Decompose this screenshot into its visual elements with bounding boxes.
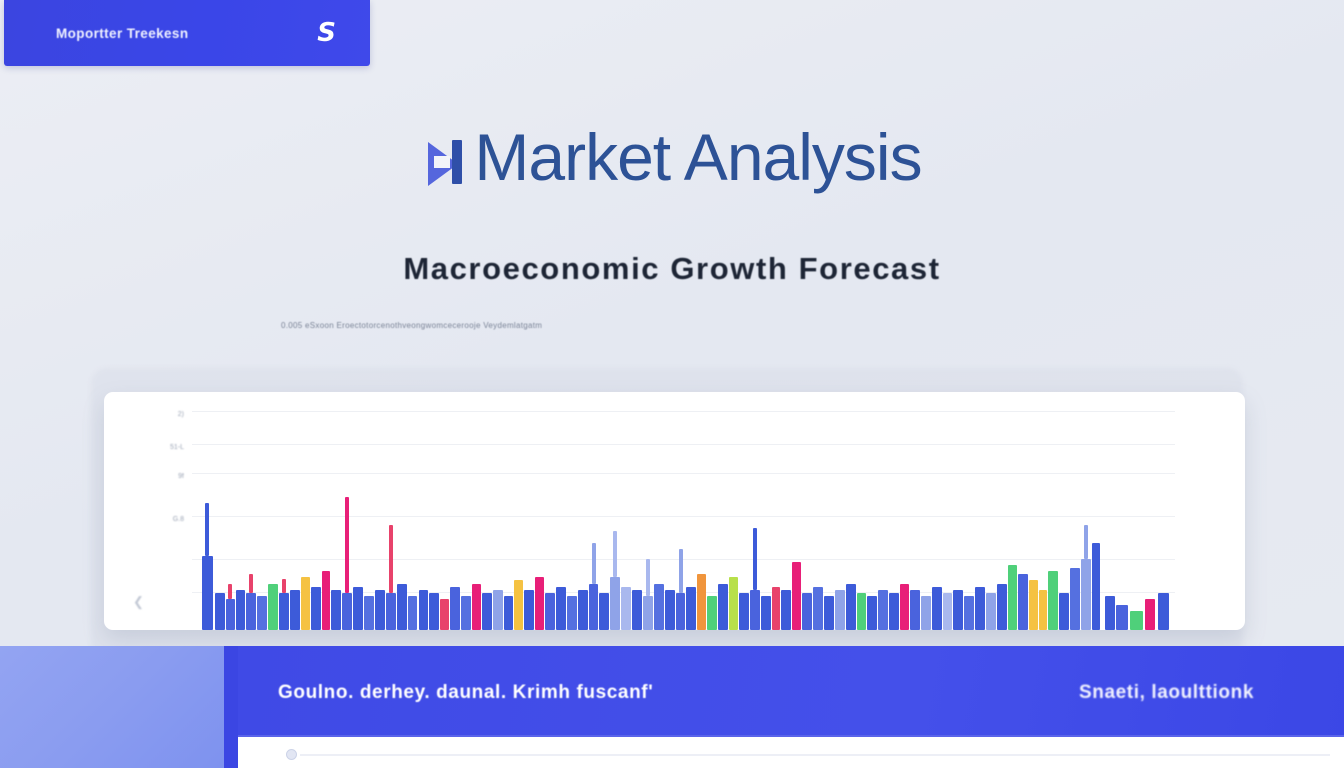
chart-bar[interactable] bbox=[386, 593, 396, 630]
chart-bar[interactable] bbox=[1158, 593, 1169, 630]
chart-bar[interactable] bbox=[953, 590, 963, 630]
chart-bar[interactable] bbox=[1008, 565, 1017, 630]
chart-bar[interactable] bbox=[729, 577, 738, 630]
chart-y-tick-label: 9f bbox=[178, 473, 184, 480]
chart-bar[interactable] bbox=[900, 584, 909, 631]
chart-bar[interactable] bbox=[226, 599, 235, 630]
chart-bar[interactable] bbox=[867, 596, 877, 630]
chart-bar[interactable] bbox=[781, 590, 791, 630]
chart-bar[interactable] bbox=[567, 596, 577, 630]
chart-bar[interactable] bbox=[997, 584, 1007, 631]
chart-bar[interactable] bbox=[846, 584, 856, 631]
chart-bar[interactable] bbox=[440, 599, 449, 630]
chart-bar[interactable] bbox=[610, 577, 620, 630]
chart-bar[interactable] bbox=[322, 571, 331, 630]
chart-bar[interactable] bbox=[450, 587, 460, 630]
chart-bar[interactable] bbox=[1092, 543, 1100, 630]
chart-bar-spike bbox=[389, 525, 393, 593]
chart-bar[interactable] bbox=[246, 593, 256, 630]
bottom-left-panel bbox=[0, 646, 224, 768]
chart-bar-spike bbox=[646, 559, 650, 596]
chart-bar[interactable] bbox=[813, 587, 823, 630]
chart-bar[interactable] bbox=[654, 584, 664, 631]
chart-bar[interactable] bbox=[331, 590, 341, 630]
chart-bar[interactable] bbox=[429, 593, 439, 630]
chart-bar[interactable] bbox=[824, 596, 834, 630]
chart-bar[interactable] bbox=[792, 562, 801, 630]
chart-bar[interactable] bbox=[643, 596, 653, 630]
brand-s-icon: S bbox=[317, 20, 336, 46]
circle-avatar-icon bbox=[286, 749, 297, 760]
chart-bar-spike bbox=[345, 497, 349, 593]
chart-bar[interactable] bbox=[493, 590, 503, 630]
chart-y-axis: 2)51-L9fG.8 bbox=[148, 392, 184, 630]
chart-bar-spike bbox=[249, 574, 253, 593]
chart-bar-spike bbox=[228, 584, 232, 600]
chart-bar[interactable] bbox=[1048, 571, 1058, 630]
chart-bar[interactable] bbox=[589, 584, 599, 631]
main-stage: Market Analysis Macroeconomic Growth For… bbox=[0, 66, 1344, 644]
chart-bar[interactable] bbox=[397, 584, 407, 631]
chart-bar[interactable] bbox=[268, 584, 278, 631]
chart-bar[interactable] bbox=[1116, 605, 1128, 630]
chart-bar[interactable] bbox=[878, 590, 888, 630]
chart-bar[interactable] bbox=[739, 593, 749, 630]
chart-bar[interactable] bbox=[472, 584, 481, 631]
bottom-content-sheet bbox=[238, 735, 1344, 768]
bottom-band-title: Goulno. derhey. daunal. Krimh fuscanf' bbox=[278, 682, 653, 704]
chart-bar[interactable] bbox=[375, 590, 385, 630]
chart-bar[interactable] bbox=[504, 596, 514, 630]
chart-bar[interactable] bbox=[514, 580, 523, 630]
chart-bar[interactable] bbox=[342, 593, 352, 630]
chart-bar[interactable] bbox=[1081, 559, 1091, 630]
chart-bar[interactable] bbox=[1145, 599, 1155, 630]
chart-bar[interactable] bbox=[857, 593, 867, 630]
chart-bar[interactable] bbox=[772, 587, 781, 630]
list-item-placeholder-line bbox=[300, 754, 1330, 756]
chart-bar[interactable] bbox=[761, 596, 771, 630]
chart-bar[interactable] bbox=[301, 577, 310, 630]
chart-bar[interactable] bbox=[419, 590, 429, 630]
chart-bar[interactable] bbox=[1105, 596, 1115, 630]
chevron-left-icon[interactable]: ❮ bbox=[133, 595, 144, 608]
bottom-rail-divider bbox=[224, 646, 238, 768]
chart-bar-spike bbox=[753, 528, 757, 590]
chart-bar[interactable] bbox=[686, 587, 696, 630]
chart-y-tick-label: 2) bbox=[178, 411, 184, 418]
chart-bar[interactable] bbox=[535, 577, 544, 630]
chart-bar[interactable] bbox=[750, 590, 760, 630]
chart-y-tick-label: G.8 bbox=[173, 516, 184, 523]
chart-bar[interactable] bbox=[215, 593, 225, 630]
chart-bar[interactable] bbox=[408, 596, 418, 630]
chart-bar[interactable] bbox=[621, 587, 631, 630]
chart-bar[interactable] bbox=[353, 587, 363, 630]
chart-bar[interactable] bbox=[599, 593, 609, 630]
chart-bar[interactable] bbox=[889, 593, 899, 630]
bottom-band-right-label: Snaeti, laoulttionk bbox=[1079, 682, 1254, 704]
chart-bar[interactable] bbox=[1018, 574, 1028, 630]
chart-bar[interactable] bbox=[910, 590, 920, 630]
chart-bar[interactable] bbox=[986, 593, 996, 630]
chart-bar[interactable] bbox=[364, 596, 374, 630]
chart-bar[interactable] bbox=[311, 587, 321, 630]
chart-bar[interactable] bbox=[1059, 593, 1069, 630]
chart-bar[interactable] bbox=[1130, 611, 1144, 630]
page-subtitle: Macroeconomic Growth Forecast bbox=[0, 251, 1344, 287]
chart-bar[interactable] bbox=[676, 593, 686, 630]
play-triangle-logo-icon bbox=[422, 134, 480, 188]
chart-y-tick-label: 51-L bbox=[170, 444, 184, 451]
chart-bar[interactable] bbox=[556, 587, 566, 630]
chart-bar[interactable] bbox=[632, 590, 642, 630]
chart-bar[interactable] bbox=[964, 596, 974, 630]
chart-bar[interactable] bbox=[1029, 580, 1038, 630]
chart-bar[interactable] bbox=[202, 556, 213, 630]
chart-bar[interactable] bbox=[545, 593, 555, 630]
page-caption: 0.005 eSxoon Eroectotorcenothveongwomcec… bbox=[281, 321, 542, 330]
chart-bar[interactable] bbox=[290, 590, 300, 630]
page-title: Market Analysis bbox=[0, 119, 1344, 195]
chart-bar-spike bbox=[282, 579, 286, 593]
chart-bar[interactable] bbox=[482, 593, 492, 630]
chart-bar[interactable] bbox=[697, 574, 706, 630]
chart-bar[interactable] bbox=[578, 590, 588, 630]
chart-bar[interactable] bbox=[279, 593, 289, 630]
chart-bar[interactable] bbox=[236, 590, 246, 630]
chart-plot-area[interactable] bbox=[196, 392, 1175, 630]
chart-bar[interactable] bbox=[257, 596, 267, 630]
chart-bar-spike bbox=[1084, 525, 1088, 559]
top-banner[interactable]: Moportter Treekesn S bbox=[4, 0, 370, 66]
top-banner-label: Moportter Treekesn bbox=[56, 26, 188, 41]
chart-bar[interactable] bbox=[835, 590, 845, 630]
chart-bar[interactable] bbox=[461, 596, 471, 630]
chart-bar-spike bbox=[205, 503, 209, 556]
chart-bar[interactable] bbox=[718, 584, 728, 631]
chart-bar-spike bbox=[679, 549, 683, 592]
chart-bar-spike bbox=[613, 531, 617, 578]
chart-bar[interactable] bbox=[707, 596, 717, 630]
chart-bar[interactable] bbox=[802, 593, 812, 630]
chart-bar[interactable] bbox=[921, 596, 931, 630]
chart-bar[interactable] bbox=[932, 587, 942, 630]
chart-bar-spike bbox=[592, 543, 596, 583]
chart-bar[interactable] bbox=[665, 590, 675, 630]
chart-card: 2)51-L9fG.8 ❮ bbox=[104, 392, 1245, 630]
chart-bar[interactable] bbox=[1070, 568, 1080, 630]
chart-bar[interactable] bbox=[524, 590, 534, 630]
chart-bar[interactable] bbox=[1039, 590, 1048, 630]
chart-bar[interactable] bbox=[975, 587, 985, 630]
chart-bar[interactable] bbox=[943, 593, 953, 630]
page-title-text: Market Analysis bbox=[474, 120, 921, 194]
